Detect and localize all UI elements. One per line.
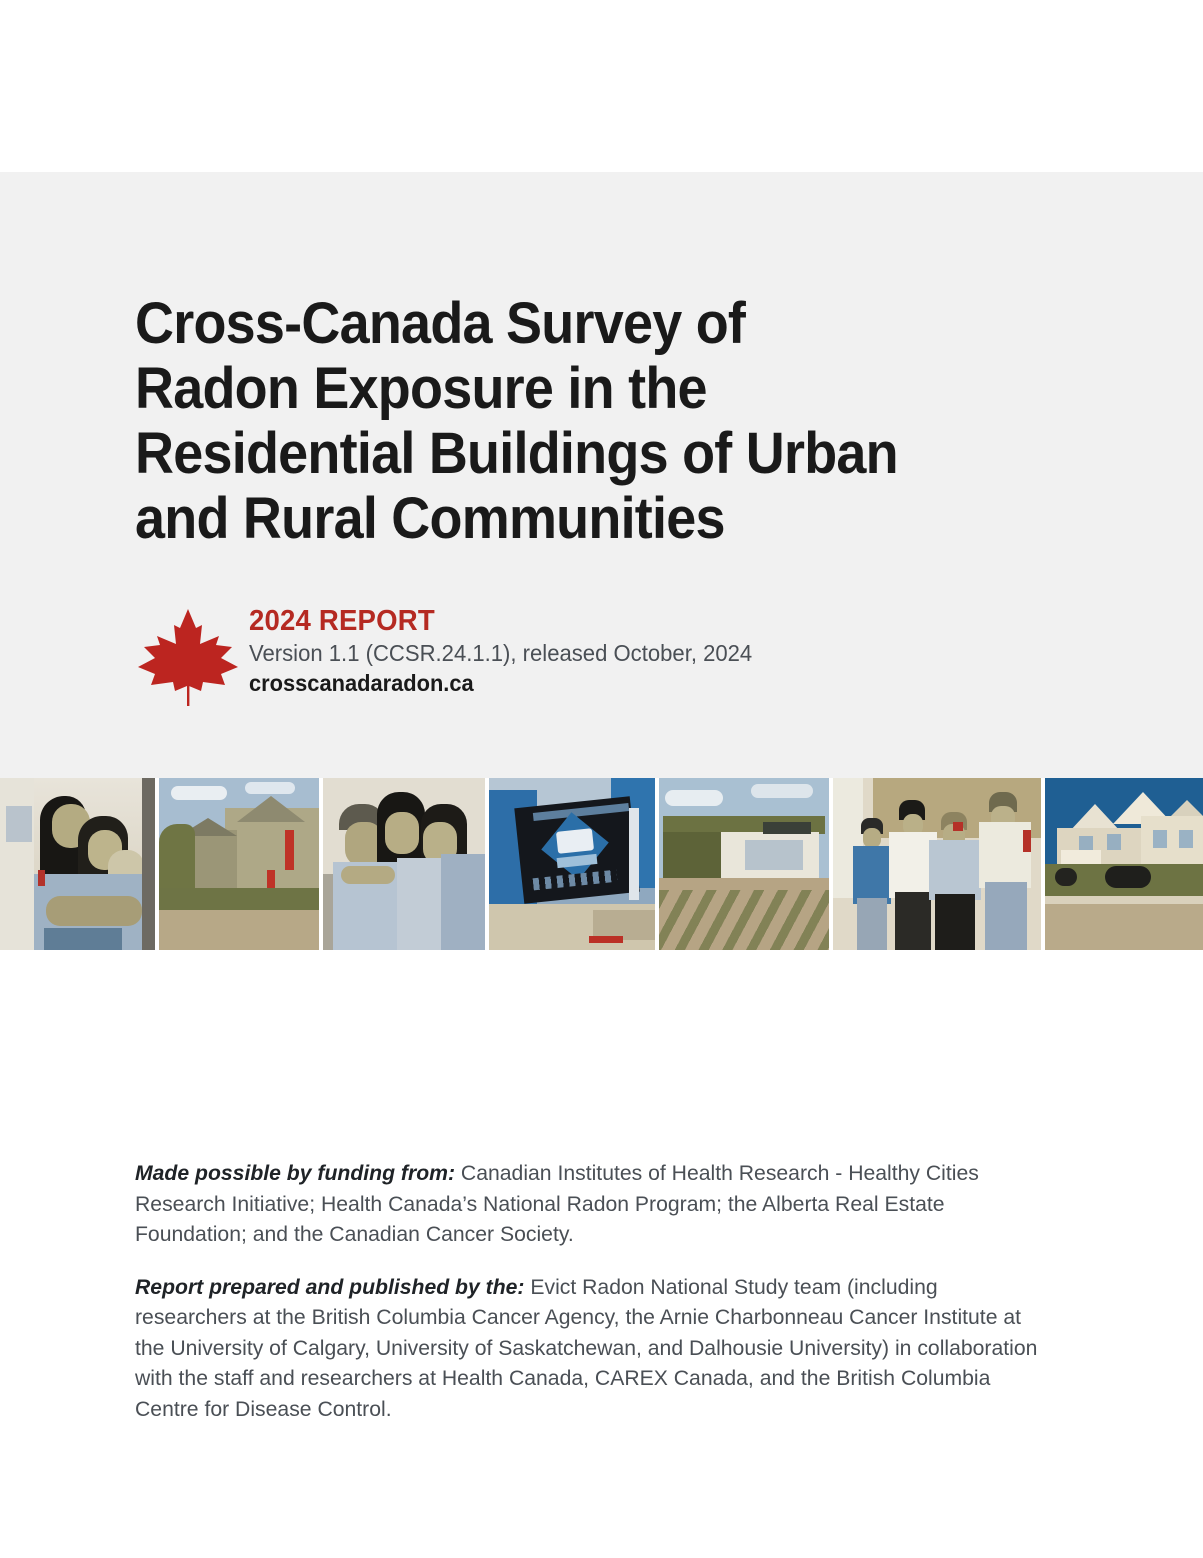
family-indoors-photo [0,778,155,950]
page-title: Cross-Canada Survey of Radon Exposure in… [135,292,916,552]
suburban-street-houses-photo [159,778,319,950]
report-meta-row: 2024 REPORT Version 1.1 (CCSR.24.1.1), r… [135,604,773,706]
bungalow-house-photo [659,778,829,950]
title-block: Cross-Canada Survey of Radon Exposure in… [135,292,975,552]
family-embrace-photo [323,778,485,950]
report-website: crosscanadaradon.ca [249,669,747,699]
radon-periodic-table-banner-photo [489,778,655,950]
report-year: 2024 REPORT [249,604,747,638]
report-version: Version 1.1 (CCSR.24.1.1), released Octo… [249,638,752,669]
large-suburban-house-photo [1045,778,1203,950]
cover-header-band: Cross-Canada Survey of Radon Exposure in… [0,172,1203,778]
funding-label: Made possible by funding from: [135,1161,455,1185]
published-label: Report prepared and published by the: [135,1275,524,1299]
group-walking-photo [833,778,1041,950]
funding-paragraph: Made possible by funding from: Canadian … [135,1158,1046,1250]
photo-strip [0,778,1203,950]
credits-block: Made possible by funding from: Canadian … [135,1158,1060,1446]
published-paragraph: Report prepared and published by the: Ev… [135,1272,1046,1425]
report-meta-text: 2024 REPORT Version 1.1 (CCSR.24.1.1), r… [241,604,773,699]
maple-leaf-icon [135,606,241,706]
